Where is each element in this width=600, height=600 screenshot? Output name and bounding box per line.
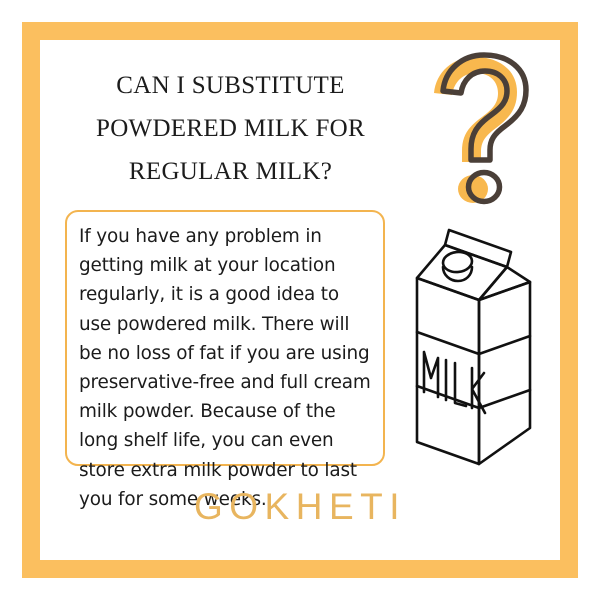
title-line-2: POWDERED MILK FOR: [58, 107, 403, 150]
title-line-1: CAN I SUBSTITUTE: [58, 64, 403, 107]
milk-carton-icon: [400, 214, 552, 466]
infographic-poster: CAN I SUBSTITUTE POWDERED MILK FOR REGUL…: [0, 0, 600, 600]
question-mark-icon: [432, 52, 562, 207]
title-line-3: REGULAR MILK?: [58, 150, 403, 193]
page-title: CAN I SUBSTITUTE POWDERED MILK FOR REGUL…: [58, 64, 403, 193]
brand-wordmark: GOKHETI: [0, 486, 600, 528]
answer-text-box: If you have any problem in getting milk …: [65, 210, 385, 466]
answer-text: If you have any problem in getting milk …: [79, 222, 373, 514]
